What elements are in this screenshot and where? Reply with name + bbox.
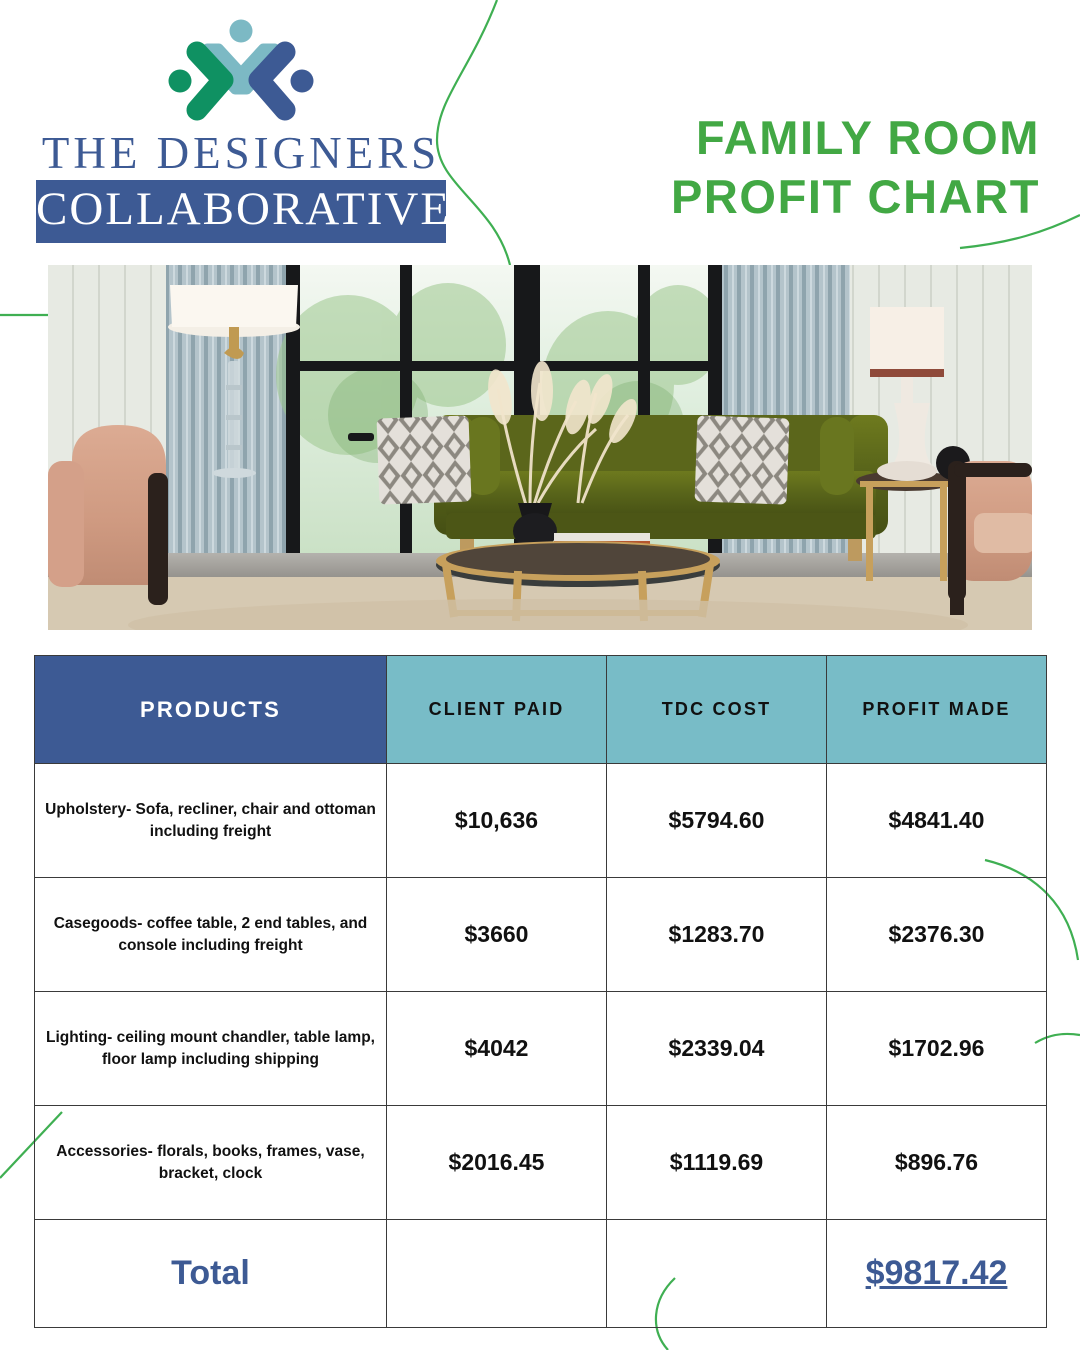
tdc-cost-value: $5794.60 — [607, 764, 827, 878]
client-paid-value: $10,636 — [387, 764, 607, 878]
total-label: Total — [35, 1220, 387, 1328]
client-paid-value: $4042 — [387, 992, 607, 1106]
page-title-line1: FAMILY ROOM — [696, 111, 1040, 164]
table-total-row: Total $9817.42 — [35, 1220, 1047, 1328]
page-title-line2: PROFIT CHART — [400, 167, 1040, 226]
profit-made-value: $896.76 — [827, 1106, 1047, 1220]
total-profit-made: $9817.42 — [827, 1220, 1047, 1328]
tdc-cost-value: $1119.69 — [607, 1106, 827, 1220]
total-client-paid — [387, 1220, 607, 1328]
profit-made-value: $2376.30 — [827, 878, 1047, 992]
column-header-tdc-cost: TDC COST — [607, 656, 827, 764]
product-name: Casegoods- coffee table, 2 end tables, a… — [35, 878, 387, 992]
table-row: Lighting- ceiling mount chandler, table … — [35, 992, 1047, 1106]
column-header-profit-made: PROFIT MADE — [827, 656, 1047, 764]
tdc-cost-value: $1283.70 — [607, 878, 827, 992]
brand-logo: THE DESIGNERS COLLABORATIVE — [36, 18, 446, 243]
page-title: FAMILY ROOM PROFIT CHART — [400, 108, 1040, 226]
page-header: THE DESIGNERS COLLABORATIVE FAMILY ROOM … — [0, 0, 1080, 250]
profit-made-value: $1702.96 — [827, 992, 1047, 1106]
profit-table-wrapper: PRODUCTS CLIENT PAID TDC COST PROFIT MAD… — [34, 655, 1046, 1328]
table-header-row: PRODUCTS CLIENT PAID TDC COST PROFIT MAD… — [35, 656, 1047, 764]
brand-name-line1: THE DESIGNERS — [36, 130, 446, 178]
brand-name-line2: COLLABORATIVE — [36, 180, 446, 243]
profit-chart-page: THE DESIGNERS COLLABORATIVE FAMILY ROOM … — [0, 0, 1080, 1350]
family-room-interior-illustration: MANDELA — [48, 265, 1032, 630]
table-row: Upholstery- Sofa, recliner, chair and ot… — [35, 764, 1047, 878]
three-people-collaboration-icon — [161, 18, 321, 130]
product-name: Lighting- ceiling mount chandler, table … — [35, 992, 387, 1106]
column-header-client-paid: CLIENT PAID — [387, 656, 607, 764]
product-name: Upholstery- Sofa, recliner, chair and ot… — [35, 764, 387, 878]
profit-table: PRODUCTS CLIENT PAID TDC COST PROFIT MAD… — [34, 655, 1047, 1328]
family-room-photo: MANDELA — [48, 265, 1032, 630]
client-paid-value: $3660 — [387, 878, 607, 992]
column-header-products: PRODUCTS — [35, 656, 387, 764]
client-paid-value: $2016.45 — [387, 1106, 607, 1220]
table-row: Casegoods- coffee table, 2 end tables, a… — [35, 878, 1047, 992]
table-row: Accessories- florals, books, frames, vas… — [35, 1106, 1047, 1220]
logo-mark — [36, 18, 446, 130]
profit-made-value: $4841.40 — [827, 764, 1047, 878]
tdc-cost-value: $2339.04 — [607, 992, 827, 1106]
total-tdc-cost — [607, 1220, 827, 1328]
product-name: Accessories- florals, books, frames, vas… — [35, 1106, 387, 1220]
